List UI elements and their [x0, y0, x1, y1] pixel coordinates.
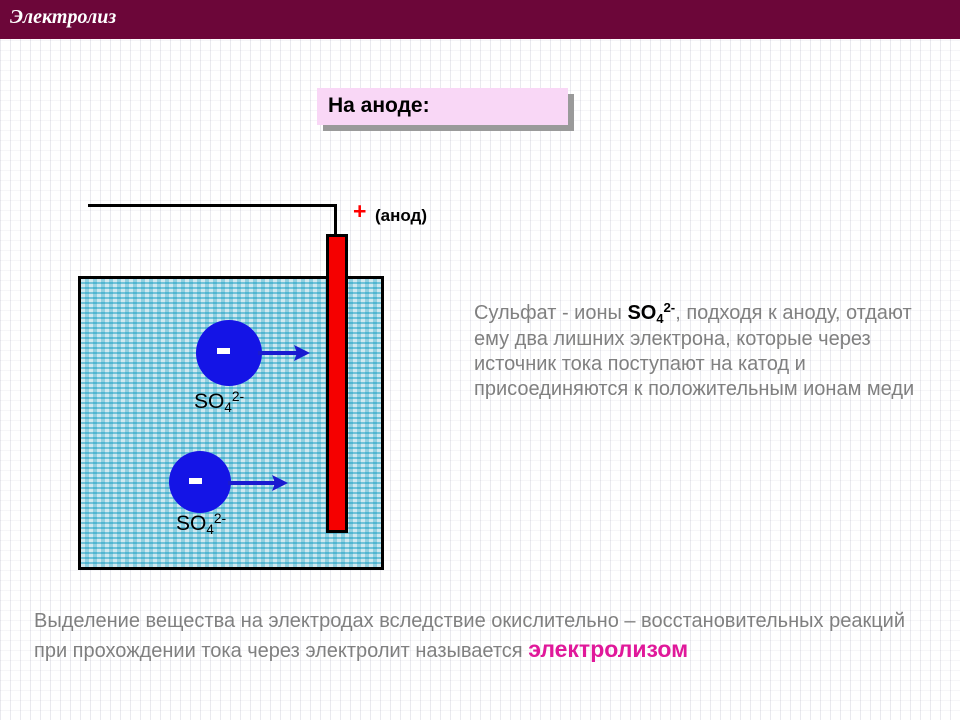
- ion-1-formula-superscript: 2-: [232, 388, 244, 404]
- ion-1-motion-arrow: [258, 338, 310, 368]
- definition-key-term: электролизом: [528, 636, 688, 662]
- ion-1-charge-sign: [217, 348, 230, 354]
- sulfate-ion-1: [196, 320, 262, 386]
- title-banner: Электролиз: [0, 0, 960, 39]
- ion-2-formula-base: SO: [176, 512, 206, 535]
- explanation-text-part1: Сульфат - ионы: [474, 302, 627, 324]
- sulfate-ion-1-formula: SO42-: [194, 390, 244, 414]
- anode-terminal-label: (анод): [375, 206, 427, 226]
- page-title: Электролиз: [10, 6, 116, 29]
- ion-2-formula-subscript: 4: [206, 522, 213, 537]
- circuit-wire-horizontal: [88, 204, 337, 207]
- ion-1-formula-subscript: 4: [224, 400, 231, 415]
- definition-text: Выделение вещества на электродах вследст…: [34, 610, 905, 662]
- anode-heading-box: На аноде:: [317, 88, 568, 125]
- ion-2-formula-superscript: 2-: [214, 510, 226, 526]
- explanation-formula-base: SO: [627, 302, 656, 324]
- ion-1-formula-base: SO: [194, 390, 224, 413]
- explanation-formula-superscript: 2-: [663, 300, 675, 315]
- explanation-paragraph: Сульфат - ионы SO42-, подходя к аноду, о…: [474, 301, 924, 402]
- sulfate-ion-2-formula: SO42-: [176, 512, 226, 536]
- anode-heading-label: На аноде:: [328, 94, 430, 118]
- slide-canvas: Электролиз На аноде: + (анод) SO42- SO42…: [0, 0, 960, 720]
- ion-2-charge-sign: [189, 478, 202, 484]
- plus-terminal-icon: +: [353, 200, 366, 223]
- ion-2-motion-arrow: [228, 468, 288, 498]
- sulfate-ion-2: [169, 451, 231, 513]
- anode-electrode-bar: [326, 234, 348, 533]
- definition-paragraph: Выделение вещества на электродах вследст…: [34, 607, 934, 665]
- circuit-wire-vertical: [334, 204, 337, 238]
- explanation-chemical-formula: SO42-: [627, 302, 675, 324]
